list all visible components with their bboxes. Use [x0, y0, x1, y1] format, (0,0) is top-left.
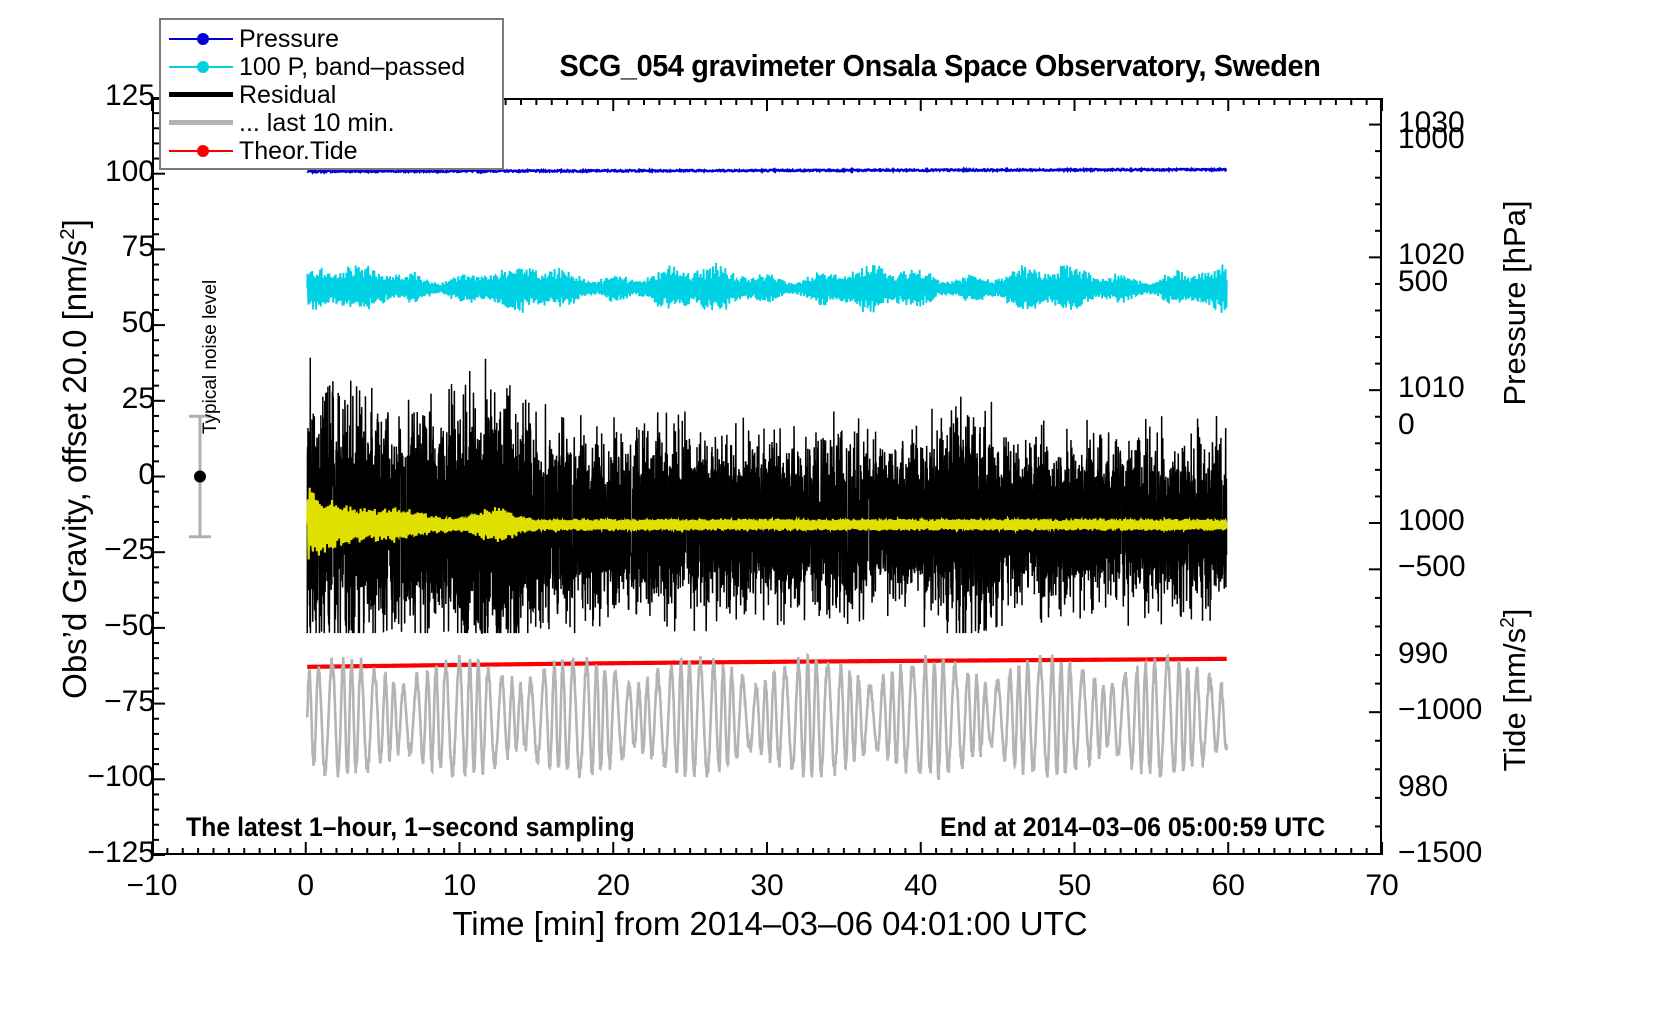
trace-residual: [307, 358, 1227, 633]
noise-level-label: Typical noise level: [200, 244, 222, 434]
legend-item-label: ... last 10 min.: [239, 109, 395, 137]
chart-root: SCG_054 gravimeter Onsala Space Observat…: [0, 0, 1660, 1020]
y-axis-right-tide-title-tail: ]: [1497, 609, 1532, 618]
legend-item-label: 100 P, band–passed: [239, 53, 465, 81]
y-axis-right-tide-title: Tide [nm/s2]: [1497, 505, 1533, 875]
y-tick-left-100: 100: [105, 155, 155, 189]
x-tick-10: 10: [415, 869, 505, 903]
x-tick-30: 30: [722, 869, 812, 903]
y-tick-left-0: 0: [138, 458, 155, 492]
bottom-right-note: End at 2014–03–06 05:00:59 UTC: [940, 812, 1325, 843]
x-tick-60: 60: [1183, 869, 1273, 903]
legend-swatch-icon: [161, 81, 239, 109]
legend-item-0[interactable]: Pressure: [161, 25, 502, 53]
plot-area: [152, 98, 1382, 855]
data-traces: [154, 100, 1380, 853]
y-axis-left-title: Obs’d Gravity, offset 20.0 [nm/s2]: [56, 79, 94, 839]
y-axis-left-title-sup: 2: [56, 228, 79, 239]
y-tick-left-neg125: −125: [87, 836, 155, 870]
legend-swatch-icon: [161, 137, 239, 165]
y-tick-tide-neg1500: −1500: [1398, 836, 1482, 870]
y-tick-left-neg100: −100: [87, 760, 155, 794]
legend-item-label: Pressure: [239, 25, 339, 53]
y-tick-left-neg25: −25: [104, 533, 155, 567]
x-tick-50: 50: [1030, 869, 1120, 903]
y-tick-tide-neg500: −500: [1398, 550, 1466, 584]
legend-swatch-icon: [161, 53, 239, 81]
y-tick-left-25: 25: [122, 382, 155, 416]
y-tick-pressure-1010: 1010: [1398, 371, 1465, 405]
y-axis-left-title-text: Obs’d Gravity, offset 20.0 [nm/s: [56, 240, 93, 699]
legend: Pressure100 P, band–passedResidual... la…: [159, 18, 504, 170]
legend-item-label: Theor.Tide: [239, 137, 358, 165]
y-tick-tide-0: 0: [1398, 408, 1415, 442]
y-tick-left-neg75: −75: [104, 685, 155, 719]
y-tick-left-50: 50: [122, 306, 155, 340]
y-tick-tide-500: 500: [1398, 265, 1448, 299]
x-tick-neg10: −10: [107, 869, 197, 903]
y-axis-right-tide-title-text: Tide [nm/s: [1497, 628, 1532, 772]
y-tick-pressure-990: 990: [1398, 637, 1448, 671]
x-axis-title: Time [min] from 2014–03–06 04:01:00 UTC: [170, 905, 1370, 943]
bottom-left-note: The latest 1–hour, 1–second sampling: [186, 812, 635, 843]
trace-pressure-bandpassed: [307, 263, 1227, 313]
legend-swatch-icon: [161, 25, 239, 53]
y-tick-tide-1000: 1000: [1398, 122, 1465, 156]
x-tick-40: 40: [876, 869, 966, 903]
trace-last-10-min: [307, 655, 1227, 780]
y-tick-pressure-980: 980: [1398, 770, 1448, 804]
legend-item-4[interactable]: Theor.Tide: [161, 137, 502, 165]
y-tick-pressure-1000: 1000: [1398, 504, 1465, 538]
legend-item-2[interactable]: Residual: [161, 81, 502, 109]
page-title: SCG_054 gravimeter Onsala Space Observat…: [512, 48, 1368, 84]
y-axis-right-tide-title-sup: 2: [1498, 617, 1519, 628]
legend-swatch-icon: [161, 109, 239, 137]
y-axis-left-title-tail: ]: [56, 219, 93, 228]
legend-item-label: Residual: [239, 81, 336, 109]
y-tick-left-75: 75: [122, 230, 155, 264]
x-tick-0: 0: [261, 869, 351, 903]
y-tick-tide-neg1000: −1000: [1398, 693, 1482, 727]
legend-item-1[interactable]: 100 P, band–passed: [161, 53, 502, 81]
legend-item-3[interactable]: ... last 10 min.: [161, 109, 502, 137]
y-tick-left-neg50: −50: [104, 609, 155, 643]
noise-level-errorbar: [189, 416, 211, 536]
y-tick-left-125: 125: [105, 79, 155, 113]
y-axis-right-pressure-title: Pressure [hPa]: [1497, 73, 1533, 533]
x-tick-20: 20: [568, 869, 658, 903]
x-tick-70: 70: [1337, 869, 1427, 903]
